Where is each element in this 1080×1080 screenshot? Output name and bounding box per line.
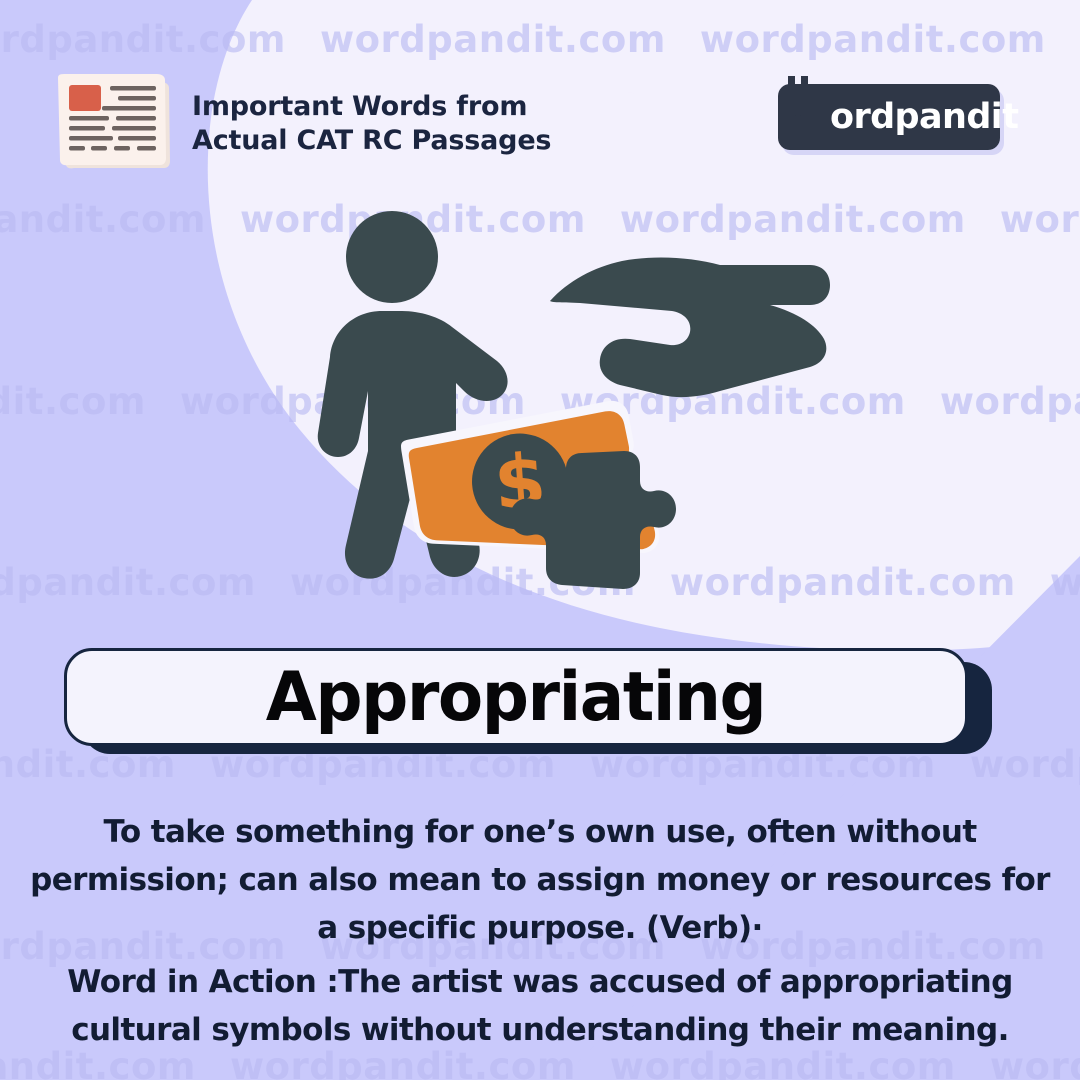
word-card-banner: Appropriating <box>64 648 992 752</box>
bookmark-w-icon-svg <box>784 74 830 136</box>
page-title: Important Words from Actual CAT RC Passa… <box>192 90 551 158</box>
vocabulary-word: Appropriating <box>266 658 766 737</box>
illustration-svg: $ <box>250 205 830 625</box>
bookmark-w-icon <box>784 74 830 136</box>
page-title-line2: Actual CAT RC Passages <box>192 124 551 158</box>
page-title-line1: Important Words from <box>192 91 527 122</box>
word-definition: To take something for one’s own use, oft… <box>30 808 1050 952</box>
newspaper-icon <box>56 72 178 170</box>
brand-label: ordpandit <box>830 84 990 150</box>
brand-logo[interactable]: ordpandit <box>778 84 1000 150</box>
reaching-hand <box>550 258 830 398</box>
word-example: Word in Action :The artist was accused o… <box>30 958 1050 1054</box>
word-card-graphic: wordpandit.comwordpandit.comwordpandit.c… <box>0 0 1080 1080</box>
word-details: To take something for one’s own use, oft… <box>30 808 1050 1054</box>
person-taking-money-illustration: $ <box>250 205 830 625</box>
header: Important Words from Actual CAT RC Passa… <box>0 0 1080 180</box>
word-card: Appropriating <box>64 648 968 746</box>
newspaper-icon-svg <box>56 72 178 170</box>
